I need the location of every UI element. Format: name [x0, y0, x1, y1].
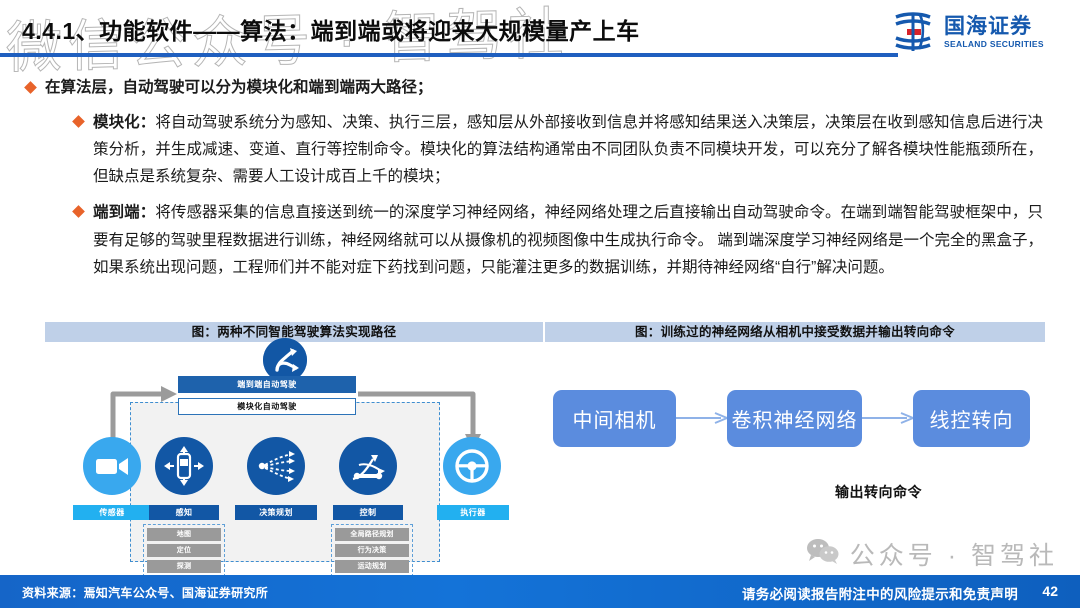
brand-logo: 国海证券 SEALAND SECURITIES — [890, 8, 1066, 56]
flow-node-cnn: 卷积神经网络 — [727, 390, 862, 447]
bullet-end-to-end-text: 端到端：将传感器采集的信息直接送到统一的深度学习神经网络，神经网络处理之后直接输… — [93, 199, 1043, 280]
content-bullets: 在算法层，自动驾驶可以分为模块化和端到端两大路径； 模块化：将自动驾驶系统分为感… — [26, 76, 1058, 281]
logo-name-cn: 国海证券 — [944, 16, 1044, 37]
logo-name-en: SEALAND SECURITIES — [944, 40, 1044, 49]
bullet-modular-text: 模块化：将自动驾驶系统分为感知、决策、执行三层，感知层从外部接收到信息并将感知结… — [93, 109, 1043, 190]
footer-disclaimer: 请务必阅读报告附注中的风险提示和免责声明 — [742, 583, 1018, 603]
stage-label-planning: 决策规划 — [235, 505, 317, 520]
stage-label-sensor: 传感器 — [73, 505, 151, 520]
stage-label-perception: 感知 — [149, 505, 219, 520]
footer-source: 资料来源：焉知汽车公众号、国海证券研究所 — [22, 584, 268, 601]
sealand-emblem-icon — [890, 11, 936, 53]
figure-right-body: 中间相机 卷积神经网络 线控转向 输出转向命令 — [545, 342, 1045, 572]
bar-modular: 模块化自动驾驶 — [178, 398, 356, 415]
diamond-bullet-icon — [72, 115, 85, 128]
stage-label-actuator: 执行器 — [437, 505, 509, 520]
perception-subitem: 地图 — [147, 528, 221, 541]
title-underline — [0, 53, 898, 57]
logo-text: 国海证券 SEALAND SECURITIES — [944, 16, 1044, 49]
bullet-e2e-lead: 端到端： — [93, 204, 155, 221]
trajectory-control-icon — [339, 437, 397, 495]
bullet-level1: 在算法层，自动驾驶可以分为模块化和端到端两大路径； — [26, 76, 1058, 100]
slide-header: 4.4.1、功能软件——算法：端到端或将迎来大规模量产上车 国海证券 SEALA… — [0, 0, 1080, 64]
figure-right-caption: 图：训练过的神经网络从相机中接受数据并输出转向命令 — [545, 322, 1045, 342]
bullet-modular-lead: 模块化： — [93, 114, 155, 131]
stage-label-control: 控制 — [333, 505, 403, 520]
diamond-bullet-icon — [24, 81, 37, 94]
path-planning-icon — [247, 437, 305, 495]
figure-left: 图：两种不同智能驾驶算法实现路径 — [45, 322, 543, 572]
bullet-end-to-end: 端到端：将传感器采集的信息直接送到统一的深度学习神经网络，神经网络处理之后直接输… — [74, 199, 1058, 280]
steering-wheel-icon — [443, 437, 501, 495]
diamond-bullet-icon — [72, 206, 85, 219]
page-title: 4.4.1、功能软件——算法：端到端或将迎来大规模量产上车 — [22, 12, 640, 46]
flow-node-steering: 线控转向 — [913, 390, 1030, 447]
bullet-e2e-body: 将传感器采集的信息直接送到统一的深度学习神经网络，神经网络处理之后直接输出自动驾… — [93, 204, 1043, 275]
slide-footer: 资料来源：焉知汽车公众号、国海证券研究所 请务必阅读报告附注中的风险提示和免责声… — [0, 575, 1080, 608]
planning-subitem: 行为决策 — [335, 544, 409, 557]
camera-icon — [83, 437, 141, 495]
figure-right: 图：训练过的神经网络从相机中接受数据并输出转向命令 中间相机 卷积神经网络 线控… — [545, 322, 1045, 572]
bar-end-to-end: 端到端自动驾驶 — [178, 376, 356, 393]
figure-left-body: 端到端自动驾驶 模块化自动驾驶 传感器 — [45, 342, 543, 572]
flow-node-camera: 中间相机 — [553, 390, 676, 447]
slide: 微信公众号 · 智驾社 4.4.1、功能软件——算法：端到端或将迎来大规模量产上… — [0, 0, 1080, 608]
perception-subitem: 定位 — [147, 544, 221, 557]
bullet-level1-text: 在算法层，自动驾驶可以分为模块化和端到端两大路径； — [45, 76, 433, 100]
planning-subitem: 全局路径规划 — [335, 528, 409, 541]
output-command-label: 输出转向命令 — [835, 482, 922, 502]
planning-subitems: 全局路径规划 行为决策 运动规划 — [331, 524, 413, 577]
perception-subitem: 探测 — [147, 560, 221, 573]
perception-subitems: 地图 定位 探测 — [143, 524, 225, 577]
car-perception-icon — [155, 437, 213, 495]
bullet-modular: 模块化：将自动驾驶系统分为感知、决策、执行三层，感知层从外部接收到信息并将感知结… — [74, 109, 1058, 190]
page-number: 42 — [1042, 583, 1058, 599]
bullet-modular-body: 将自动驾驶系统分为感知、决策、执行三层，感知层从外部接收到信息并将感知结果送入决… — [93, 114, 1043, 185]
planning-subitem: 运动规划 — [335, 560, 409, 573]
